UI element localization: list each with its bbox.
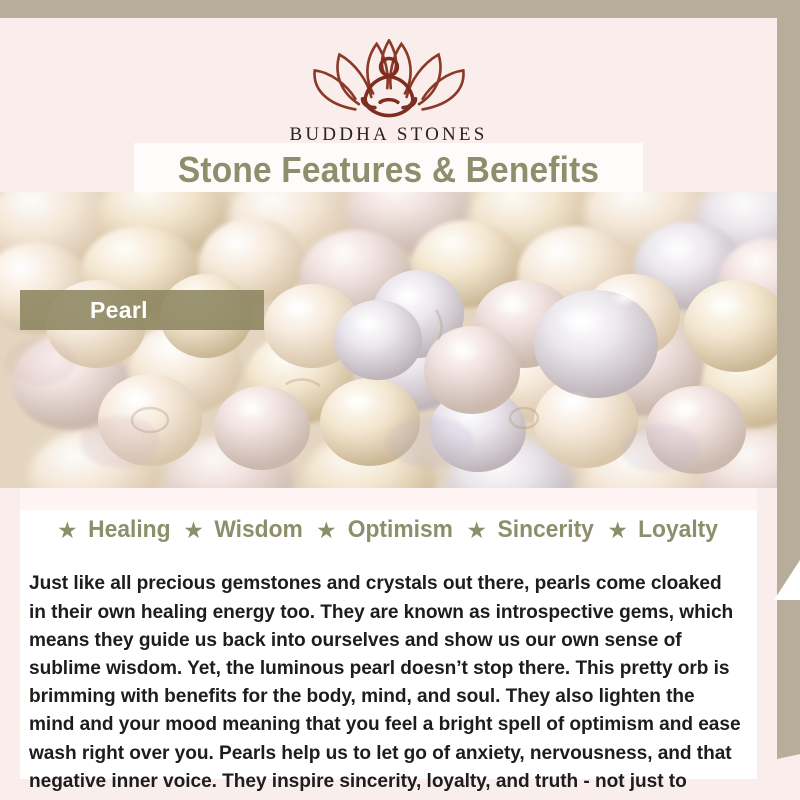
stone-description: Just like all precious gemstones and cry… bbox=[29, 569, 742, 800]
feature-item-loyalty: ★ Loyalty bbox=[607, 516, 720, 544]
star-icon: ★ bbox=[466, 519, 487, 542]
feature-item-sincerity: ★ Sincerity bbox=[466, 516, 596, 544]
stone-name: Pearl bbox=[90, 297, 148, 324]
frame-right-band bbox=[777, 0, 800, 583]
feature-label: Optimism bbox=[347, 516, 452, 544]
page-card: BUDDHA STONES Stone Features & Benefits bbox=[0, 18, 777, 800]
title-bar: Stone Features & Benefits bbox=[134, 143, 643, 197]
content-top-tint bbox=[20, 488, 757, 510]
feature-label: Healing bbox=[88, 516, 170, 544]
star-icon: ★ bbox=[607, 519, 628, 542]
star-icon: ★ bbox=[316, 519, 337, 542]
star-icon: ★ bbox=[57, 519, 78, 542]
page-title: Stone Features & Benefits bbox=[178, 149, 599, 191]
stone-name-banner: Pearl bbox=[20, 290, 264, 330]
feature-item-healing: ★ Healing bbox=[57, 516, 172, 544]
features-list: ★ Healing ★ Wisdom ★ Optimism ★ Sincerit… bbox=[20, 516, 757, 544]
stone-photo bbox=[0, 192, 777, 488]
pearl-photo-illustration bbox=[0, 192, 777, 488]
feature-label: Sincerity bbox=[498, 516, 594, 544]
brand-logo: BUDDHA STONES bbox=[0, 28, 777, 146]
content-panel: ★ Healing ★ Wisdom ★ Optimism ★ Sincerit… bbox=[20, 488, 757, 779]
frame-top-band bbox=[0, 0, 800, 18]
feature-label: Wisdom bbox=[214, 516, 302, 544]
feature-item-wisdom: ★ Wisdom bbox=[183, 516, 305, 544]
poster: BUDDHA STONES Stone Features & Benefits bbox=[0, 0, 800, 800]
feature-label: Loyalty bbox=[638, 516, 718, 544]
lotus-meditation-figure-icon bbox=[299, 28, 479, 120]
star-icon: ★ bbox=[183, 519, 204, 542]
feature-item-optimism: ★ Optimism bbox=[316, 516, 455, 544]
header: BUDDHA STONES Stone Features & Benefits bbox=[0, 18, 777, 192]
